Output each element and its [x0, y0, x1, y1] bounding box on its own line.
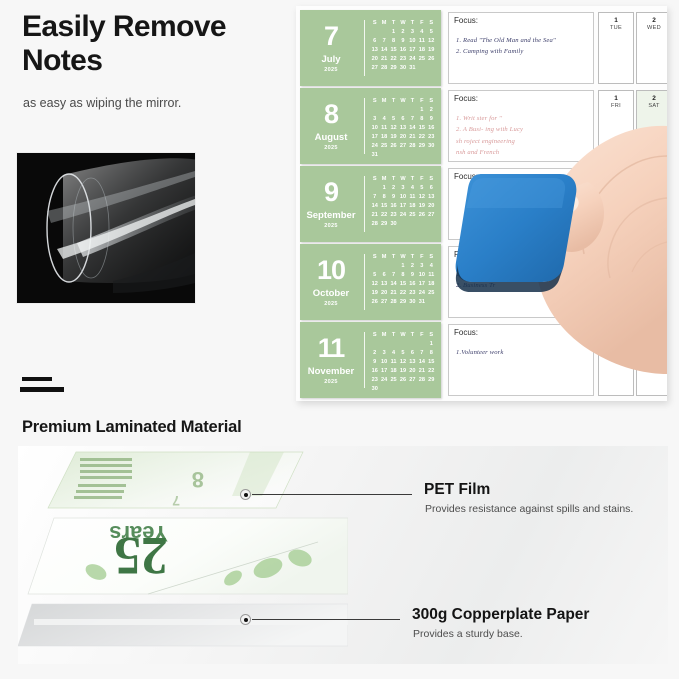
day-of-week-header: M	[379, 97, 388, 106]
month-divider	[364, 332, 365, 388]
day-cell[interactable]: 5	[398, 349, 407, 358]
month-day-grid: SMTWTFS.....1234567891011121314151617181…	[370, 97, 436, 160]
day-cell[interactable]: 10	[417, 271, 426, 280]
laminated-layers-icon: 8 7 25 Years	[18, 446, 348, 664]
day-cell[interactable]: 20	[427, 202, 436, 211]
day-cell[interactable]: 10	[370, 124, 379, 133]
day-cell[interactable]: 14	[379, 46, 388, 55]
day-slot-number: 1	[599, 95, 633, 102]
month-divider	[364, 254, 365, 310]
day-cell[interactable]: 27	[408, 376, 417, 385]
day-cell[interactable]: 7	[370, 193, 379, 202]
day-of-week-header: S	[427, 253, 436, 262]
day-cell[interactable]: 21	[370, 211, 379, 220]
month-year: 2025	[324, 67, 337, 73]
calendar-month-row: 11November2025SMTWTFS......1234567891011…	[300, 322, 663, 398]
day-cell[interactable]: 23	[389, 211, 398, 220]
day-cell[interactable]: 18	[427, 280, 436, 289]
day-of-week-header: M	[379, 19, 388, 28]
svg-text:8: 8	[192, 467, 204, 492]
day-cell[interactable]: 23	[408, 289, 417, 298]
day-cell[interactable]: 20	[379, 289, 388, 298]
day-cell[interactable]: 12	[398, 358, 407, 367]
month-number: 8	[324, 101, 338, 128]
day-cell[interactable]: 28	[408, 142, 417, 151]
day-of-week-header: S	[370, 175, 379, 184]
month-number: 10	[317, 257, 345, 284]
day-of-week-header: F	[417, 19, 426, 28]
day-cell[interactable]: 7	[389, 271, 398, 280]
month-number: 7	[324, 23, 338, 50]
material-layers-section: 8 7 25 Years	[18, 446, 668, 664]
day-slot-weekday: SAT	[637, 103, 667, 109]
day-cell[interactable]: 19	[389, 133, 398, 142]
day-cell[interactable]: 7	[408, 115, 417, 124]
calendar-preview-panel: 7July2025SMTWTFS..1234567891011121314151…	[296, 6, 667, 401]
day-of-week-header: T	[389, 253, 398, 262]
day-cell[interactable]: 27	[379, 298, 388, 307]
day-cell[interactable]: 11	[379, 124, 388, 133]
day-cell[interactable]: 26	[389, 142, 398, 151]
day-cell[interactable]: 20	[370, 55, 379, 64]
day-cell[interactable]: 17	[417, 280, 426, 289]
day-cell[interactable]: 19	[370, 289, 379, 298]
focus-note-line: 1. Hit the Gym	[456, 269, 589, 280]
day-cell[interactable]: 31	[417, 298, 426, 307]
day-cell[interactable]: 28	[370, 220, 379, 229]
day-cell[interactable]: 18	[408, 202, 417, 211]
day-slot[interactable]: 1SAT	[598, 324, 634, 396]
day-cell[interactable]: 12	[417, 193, 426, 202]
month-identity: 9September2025	[300, 166, 362, 242]
day-cell[interactable]: 9	[389, 193, 398, 202]
day-of-week-header: T	[389, 175, 398, 184]
day-slot[interactable]: 2SUN	[636, 324, 667, 396]
focus-note-text: 1.Volunteer work	[456, 347, 589, 358]
day-of-week-header: W	[398, 331, 407, 340]
day-slot[interactable]: 2SAT	[636, 90, 667, 162]
day-cell[interactable]: 14	[370, 202, 379, 211]
day-of-week-header: T	[408, 97, 417, 106]
day-slot-weekday: WED	[599, 259, 633, 265]
month-identity: 11November2025	[300, 322, 362, 398]
day-of-week-header: T	[408, 19, 417, 28]
month-year: 2025	[324, 379, 337, 385]
day-cell[interactable]: 10	[408, 37, 417, 46]
day-cell[interactable]: 6	[398, 115, 407, 124]
day-cell[interactable]: 11	[408, 193, 417, 202]
calendar-month-row: 8August2025SMTWTFS.....12345678910111213…	[300, 88, 663, 164]
day-of-week-header: S	[427, 331, 436, 340]
day-of-week-header: T	[408, 175, 417, 184]
calendar-month-row: 7July2025SMTWTFS..1234567891011121314151…	[300, 10, 663, 86]
day-of-week-header: T	[389, 19, 398, 28]
day-cell[interactable]: 17	[398, 202, 407, 211]
month-name: July	[321, 54, 340, 65]
day-cell[interactable]: 1	[389, 28, 398, 37]
month-block-november[interactable]: 11November2025SMTWTFS......1234567891011…	[300, 322, 441, 398]
day-cell[interactable]: 13	[408, 358, 417, 367]
day-cell[interactable]: 28	[379, 64, 388, 73]
day-cell[interactable]: 22	[398, 289, 407, 298]
day-cell[interactable]: 3	[408, 28, 417, 37]
focus-note-card[interactable]: Focus:	[448, 168, 594, 240]
day-cell[interactable]: 30	[408, 298, 417, 307]
day-cell[interactable]: 5	[417, 184, 426, 193]
day-cell[interactable]: 26	[370, 298, 379, 307]
month-number: 9	[324, 179, 338, 206]
layer-description: Provides resistance against spills and s…	[425, 503, 633, 515]
day-cell[interactable]: 13	[379, 280, 388, 289]
day-of-week-header: T	[408, 253, 417, 262]
day-cell[interactable]: 2	[427, 106, 436, 115]
day-cell[interactable]: 15	[427, 358, 436, 367]
day-cell[interactable]: 16	[408, 280, 417, 289]
day-of-week-header: M	[379, 331, 388, 340]
month-identity: 10October2025	[300, 244, 362, 320]
day-cell[interactable]: 19	[398, 367, 407, 376]
day-cell[interactable]: 15	[417, 124, 426, 133]
callout-leader-line	[252, 494, 412, 495]
day-slot-weekday: FRI	[599, 103, 633, 109]
day-cell[interactable]: 11	[427, 271, 436, 280]
day-cell[interactable]: 16	[398, 46, 407, 55]
day-of-week-header: S	[427, 19, 436, 28]
day-cell[interactable]: 8	[417, 115, 426, 124]
day-cell[interactable]: 19	[427, 46, 436, 55]
month-identity: 8August2025	[300, 88, 362, 164]
day-cell[interactable]: 10	[379, 358, 388, 367]
day-cell[interactable]: 1	[398, 262, 407, 271]
day-cell[interactable]: 22	[427, 367, 436, 376]
divider-bar-bottom	[20, 387, 64, 392]
day-cell[interactable]: 25	[427, 289, 436, 298]
day-cell[interactable]: 10	[398, 193, 407, 202]
day-cell[interactable]: 11	[389, 358, 398, 367]
day-cell[interactable]: 29	[427, 376, 436, 385]
day-cell[interactable]: 4	[389, 349, 398, 358]
month-number: 11	[318, 335, 345, 362]
day-cell[interactable]: 16	[389, 202, 398, 211]
day-of-week-header: W	[398, 175, 407, 184]
month-name: October	[313, 288, 349, 299]
day-of-week-header: W	[398, 253, 407, 262]
day-cell[interactable]: 23	[427, 133, 436, 142]
day-cell[interactable]: 24	[379, 376, 388, 385]
day-cell[interactable]: 17	[408, 46, 417, 55]
day-slot-number: 1	[599, 251, 633, 258]
day-cell[interactable]: 5	[370, 271, 379, 280]
focus-note-line: nsh and French	[456, 147, 589, 158]
page-title: Easily Remove Notes	[22, 10, 292, 78]
day-cell[interactable]: 27	[427, 211, 436, 220]
day-cell[interactable]: 30	[398, 64, 407, 73]
day-cell[interactable]: 4	[417, 28, 426, 37]
day-cell[interactable]: 27	[398, 142, 407, 151]
day-of-week-header: S	[370, 253, 379, 262]
day-cell[interactable]: 20	[408, 367, 417, 376]
day-cell[interactable]: 8	[389, 37, 398, 46]
day-cell[interactable]: 28	[389, 298, 398, 307]
month-day-grid: SMTWTFS......123456789101112131415161718…	[370, 331, 436, 394]
month-year: 2025	[324, 301, 337, 307]
day-cell[interactable]: 31	[408, 64, 417, 73]
month-block-september[interactable]: 9September2025SMTWTFS.123456789101112131…	[300, 166, 441, 242]
day-cell[interactable]: 8	[398, 271, 407, 280]
day-cell[interactable]: 17	[379, 367, 388, 376]
layer-description: Provides a sturdy base.	[413, 628, 523, 640]
day-slot-number: 2	[637, 95, 667, 102]
day-cell[interactable]: 5	[427, 28, 436, 37]
day-cell[interactable]: 15	[379, 202, 388, 211]
day-cell[interactable]: 26	[417, 211, 426, 220]
focus-note-text: 1. Hit the Gym2. Business Tr	[456, 269, 589, 292]
day-cell[interactable]: 21	[408, 133, 417, 142]
day-cell[interactable]: 18	[379, 133, 388, 142]
day-slot-weekday: TUE	[637, 181, 667, 187]
day-cell[interactable]: 22	[379, 211, 388, 220]
day-slot[interactable]: 2THU	[636, 246, 667, 318]
callout-leader-line	[252, 619, 400, 620]
day-of-week-header: M	[379, 253, 388, 262]
day-cell[interactable]: 2	[398, 28, 407, 37]
callout-dot-icon	[240, 614, 251, 625]
day-cell[interactable]: 12	[427, 37, 436, 46]
day-slot-weekday: TUE	[599, 25, 633, 31]
day-cell[interactable]: 6	[427, 184, 436, 193]
day-cell[interactable]: 22	[417, 133, 426, 142]
day-cell[interactable]: 15	[389, 46, 398, 55]
day-cell[interactable]: 25	[389, 376, 398, 385]
focus-note-card[interactable]: Focus:1. Writ ster for ''2. A Busi- ing …	[448, 90, 594, 162]
month-divider	[364, 98, 365, 154]
day-cell[interactable]: 28	[417, 376, 426, 385]
day-slot-number: 1	[599, 329, 633, 336]
day-cell[interactable]: 1	[417, 106, 426, 115]
month-block-july[interactable]: 7July2025SMTWTFS..1234567891011121314151…	[300, 10, 441, 86]
day-cell[interactable]: 16	[370, 367, 379, 376]
day-cell[interactable]: 6	[379, 271, 388, 280]
day-of-week-header: T	[389, 331, 398, 340]
day-of-week-header: T	[408, 331, 417, 340]
day-cell[interactable]: 5	[389, 115, 398, 124]
day-of-week-header: S	[370, 19, 379, 28]
day-cell[interactable]: 24	[370, 142, 379, 151]
pet-film-photo	[17, 153, 195, 303]
focus-note-line: 1. Read "The Old Man and the Sea"	[456, 35, 589, 46]
day-cell[interactable]: 6	[408, 349, 417, 358]
day-cell[interactable]: 24	[408, 55, 417, 64]
month-divider	[364, 20, 365, 76]
day-cell[interactable]: 12	[389, 124, 398, 133]
month-name: November	[308, 366, 354, 377]
day-slot-weekday: WED	[637, 25, 667, 31]
focus-note-text: 1. Writ ster for ''2. A Busi- ing with L…	[456, 113, 589, 158]
day-cell[interactable]: 3	[398, 184, 407, 193]
day-cell[interactable]: 4	[427, 262, 436, 271]
day-cell[interactable]: 22	[389, 55, 398, 64]
day-of-week-header: M	[379, 175, 388, 184]
day-cell[interactable]: 31	[370, 151, 379, 160]
layer-title: 300g Copperplate Paper	[412, 606, 589, 624]
day-cell[interactable]: 18	[417, 46, 426, 55]
focus-note-line: 2. A Busi- ing with Lucy	[456, 124, 589, 135]
svg-text:7: 7	[172, 493, 180, 509]
month-name: August	[315, 132, 348, 143]
month-day-grid: SMTWTFS...123456789101112131415161718192…	[370, 253, 436, 307]
day-of-week-header: S	[370, 97, 379, 106]
day-cell[interactable]: 9	[370, 358, 379, 367]
focus-note-card[interactable]: Focus:1. Hit the Gym2. Business Tr	[448, 246, 594, 318]
focus-label: Focus:	[454, 172, 478, 181]
day-cell[interactable]: 18	[389, 367, 398, 376]
day-cell[interactable]: 24	[398, 211, 407, 220]
focus-note-line: 2. Camping with Family	[456, 46, 589, 57]
day-cell[interactable]: 17	[370, 133, 379, 142]
day-slot-number: 2	[637, 17, 667, 24]
day-cell[interactable]: 29	[398, 298, 407, 307]
day-cell[interactable]: 25	[379, 142, 388, 151]
day-cell[interactable]: 4	[379, 115, 388, 124]
section-heading: Premium Laminated Material	[22, 418, 241, 437]
hero-section: Easily Remove Notes as easy as wiping th…	[0, 0, 679, 410]
day-cell[interactable]: 24	[417, 289, 426, 298]
day-of-week-header: F	[417, 331, 426, 340]
day-cell[interactable]: 25	[408, 211, 417, 220]
month-year: 2025	[324, 145, 337, 151]
day-slot[interactable]: 1TUE	[598, 12, 634, 84]
focus-note-card[interactable]: Focus:1. Read "The Old Man and the Sea"2…	[448, 12, 594, 84]
day-cell[interactable]: 9	[398, 37, 407, 46]
day-cell[interactable]: 21	[417, 367, 426, 376]
calendar-month-row: 10October2025SMTWTFS...12345678910111213…	[300, 244, 663, 320]
day-cell[interactable]: 2	[389, 184, 398, 193]
day-cell[interactable]: 14	[389, 280, 398, 289]
month-year: 2025	[324, 223, 337, 229]
day-cell[interactable]: 9	[427, 115, 436, 124]
day-slot-weekday: SUN	[637, 337, 667, 343]
day-cell[interactable]: 8	[427, 349, 436, 358]
day-slot-number: 1	[599, 17, 633, 24]
day-slot[interactable]: 2TUE	[636, 168, 667, 240]
day-of-week-header: S	[427, 97, 436, 106]
day-cell[interactable]: 1	[427, 340, 436, 349]
day-slot-number: 1	[599, 173, 633, 180]
month-block-october[interactable]: 10October2025SMTWTFS...12345678910111213…	[300, 244, 441, 320]
focus-note-line: sh roject engineering	[456, 136, 589, 147]
day-of-week-header: F	[417, 253, 426, 262]
day-cell[interactable]: 14	[408, 124, 417, 133]
day-cell[interactable]: 15	[398, 280, 407, 289]
day-cell[interactable]: 2	[370, 349, 379, 358]
day-cell[interactable]: 14	[417, 358, 426, 367]
month-day-grid: SMTWTFS..1234567891011121314151617181920…	[370, 19, 436, 73]
day-cell[interactable]: 6	[370, 37, 379, 46]
focus-note-card[interactable]: Focus:1.Volunteer work	[448, 324, 594, 396]
focus-note-line: 1.Volunteer work	[456, 347, 589, 358]
day-slot-number: 2	[637, 173, 667, 180]
day-cell[interactable]: 26	[427, 55, 436, 64]
divider-bar-top	[22, 377, 52, 381]
pet-film-roll-icon	[17, 153, 195, 303]
page-subtitle: as easy as wiping the mirror.	[23, 96, 283, 110]
day-cell[interactable]: 26	[398, 376, 407, 385]
day-of-week-header: T	[389, 97, 398, 106]
day-cell[interactable]: 19	[417, 202, 426, 211]
day-of-week-header: W	[398, 97, 407, 106]
month-divider	[364, 176, 365, 232]
day-cell[interactable]: 16	[427, 124, 436, 133]
day-of-week-header: S	[370, 331, 379, 340]
day-of-week-header: W	[398, 19, 407, 28]
month-identity: 7July2025	[300, 10, 362, 86]
day-cell[interactable]: 23	[370, 376, 379, 385]
day-cell[interactable]: 3	[370, 115, 379, 124]
day-cell[interactable]: 13	[370, 46, 379, 55]
day-cell[interactable]: 30	[427, 142, 436, 151]
focus-label: Focus:	[454, 328, 478, 337]
day-cell[interactable]: 29	[379, 220, 388, 229]
day-cell[interactable]: 8	[379, 193, 388, 202]
day-cell[interactable]: 13	[427, 193, 436, 202]
day-cell[interactable]: 9	[408, 271, 417, 280]
day-of-week-header: F	[417, 175, 426, 184]
day-cell[interactable]: 29	[417, 142, 426, 151]
day-cell[interactable]: 25	[417, 55, 426, 64]
day-cell[interactable]: 20	[398, 133, 407, 142]
focus-note-line: 2. Business Tr	[456, 280, 589, 291]
month-day-grid: SMTWTFS.12345678910111213141516171819202…	[370, 175, 436, 229]
layer-stack-photo: 8 7 25 Years	[18, 446, 348, 664]
day-slot-number: 2	[637, 251, 667, 258]
focus-label: Focus:	[454, 94, 478, 103]
day-cell[interactable]: 23	[398, 55, 407, 64]
day-cell[interactable]: 30	[370, 385, 379, 394]
day-slot-weekday: MON	[599, 181, 633, 187]
day-cell[interactable]: 2	[408, 262, 417, 271]
focus-label: Focus:	[454, 16, 478, 25]
day-of-week-header: S	[427, 175, 436, 184]
day-slot[interactable]: 1WED	[598, 246, 634, 318]
callout-dot-icon	[240, 489, 251, 500]
day-cell[interactable]: 30	[389, 220, 398, 229]
day-cell[interactable]: 21	[379, 55, 388, 64]
svg-text:Years: Years	[109, 521, 168, 546]
focus-note-text: 1. Read "The Old Man and the Sea"2. Camp…	[456, 35, 589, 58]
day-cell[interactable]: 27	[370, 64, 379, 73]
day-slot[interactable]: 1MON	[598, 168, 634, 240]
day-cell[interactable]: 29	[389, 64, 398, 73]
day-cell[interactable]: 13	[398, 124, 407, 133]
day-slot[interactable]: 2WED	[636, 12, 667, 84]
layer-title: PET Film	[424, 481, 490, 499]
month-block-august[interactable]: 8August2025SMTWTFS.....12345678910111213…	[300, 88, 441, 164]
day-slot-weekday: SAT	[599, 337, 633, 343]
day-cell[interactable]: 3	[417, 262, 426, 271]
day-cell[interactable]: 11	[417, 37, 426, 46]
day-cell[interactable]: 3	[379, 349, 388, 358]
day-slot[interactable]: 1FRI	[598, 90, 634, 162]
day-slot-weekday: THU	[637, 259, 667, 265]
calendar-month-row: 9September2025SMTWTFS.123456789101112131…	[300, 166, 663, 242]
day-cell[interactable]: 7	[379, 37, 388, 46]
day-cell[interactable]: 7	[417, 349, 426, 358]
day-cell[interactable]: 21	[389, 289, 398, 298]
month-name: September	[306, 210, 355, 221]
day-cell[interactable]: 12	[370, 280, 379, 289]
day-cell[interactable]: 4	[408, 184, 417, 193]
day-cell[interactable]: 1	[379, 184, 388, 193]
